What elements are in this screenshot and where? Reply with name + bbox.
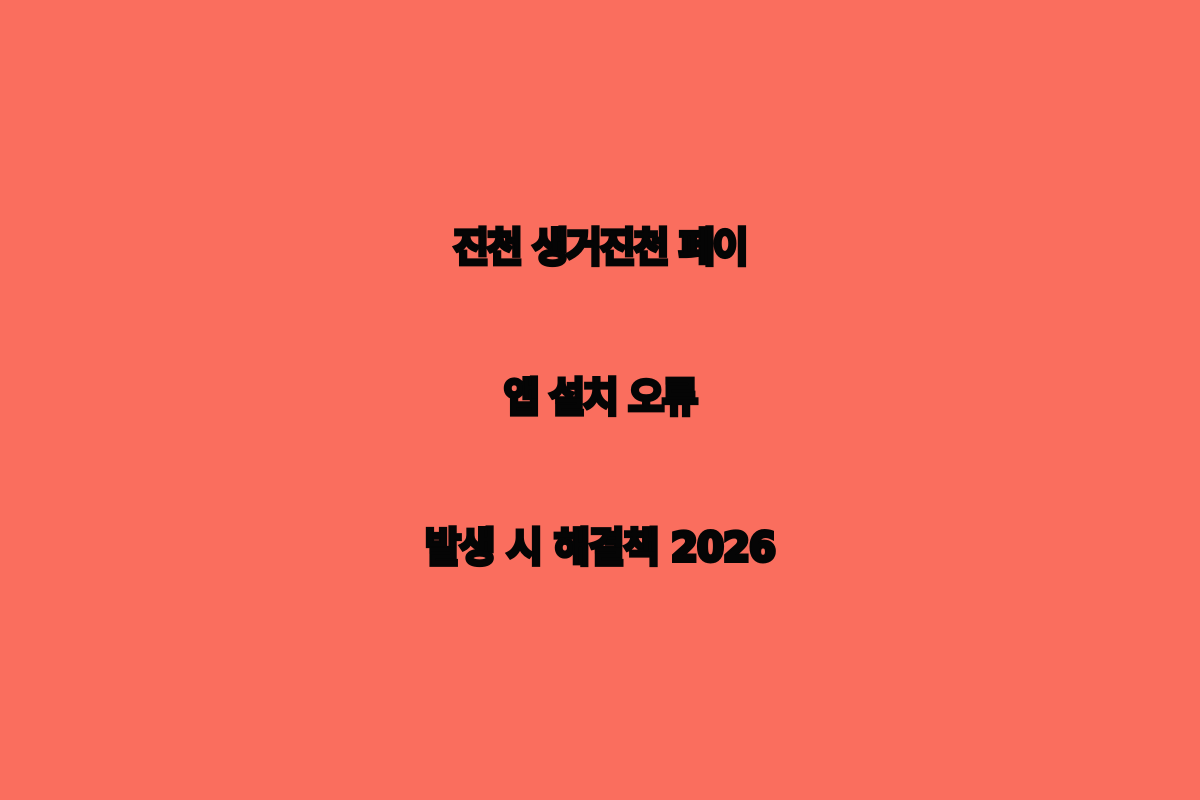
- headline-line-3: 발생 시 해결책 2026: [30, 473, 1171, 623]
- poster-canvas: 진천 생거진천 페이 앱 설치 오류 발생 시 해결책 2026: [0, 0, 1200, 800]
- headline-line-2: 앱 설치 오류: [30, 323, 1171, 473]
- headline-line-1: 진천 생거진천 페이: [30, 173, 1171, 323]
- headline-block: 진천 생거진천 페이 앱 설치 오류 발생 시 해결책 2026: [12, 173, 1188, 623]
